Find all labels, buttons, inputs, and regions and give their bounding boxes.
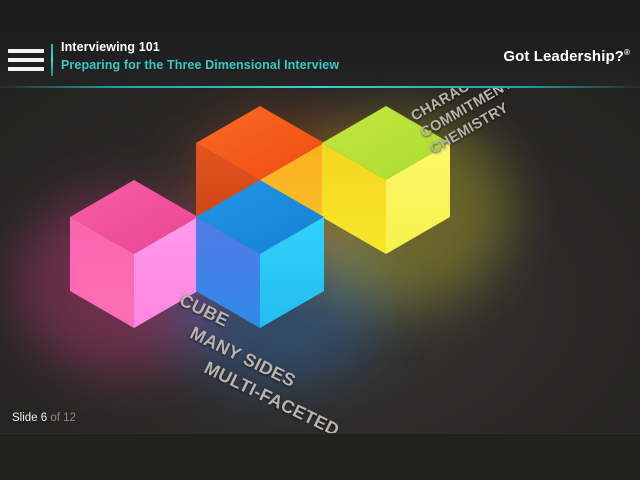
- pink-cube-faces: [70, 180, 198, 328]
- hamburger-bar-3: [8, 67, 44, 71]
- title-block: Interviewing 101 Preparing for the Three…: [61, 39, 339, 73]
- course-title: Interviewing 101: [61, 39, 339, 55]
- slide-counter-total: of 12: [50, 412, 76, 424]
- slide-viewer: CHARACTARISTICS COMMITMENT CHEMISTRY CUB…: [0, 0, 640, 480]
- pink-cube: [70, 180, 198, 328]
- hamburger-bar-1: [8, 49, 44, 53]
- slide-header: Interviewing 101 Preparing for the Three…: [0, 0, 640, 88]
- registered-trademark-icon: ®: [624, 48, 630, 57]
- slide-canvas: CHARACTARISTICS COMMITMENT CHEMISTRY CUB…: [0, 88, 640, 433]
- header-divider: [51, 44, 53, 76]
- slide-counter-current: Slide 6: [12, 412, 47, 424]
- blue-cube-faces: [196, 180, 324, 328]
- brand-logo: Got Leadership?®: [503, 48, 630, 65]
- blue-cube: [196, 180, 324, 328]
- isometric-cube-cluster: [0, 88, 640, 433]
- slide-counter: Slide 6 of 12: [12, 412, 76, 424]
- lesson-subtitle: Preparing for the Three Dimensional Inte…: [61, 57, 339, 73]
- hamburger-bar-2: [8, 58, 44, 62]
- yellowgreen-cube-faces: [322, 106, 450, 254]
- yellowgreen-cube: [322, 106, 450, 254]
- header-accent-rule: [0, 86, 640, 88]
- slide-footer: Slide 6 of 12: [0, 433, 640, 480]
- brand-text: Got Leadership?: [503, 48, 624, 65]
- hamburger-menu-icon[interactable]: [8, 46, 46, 74]
